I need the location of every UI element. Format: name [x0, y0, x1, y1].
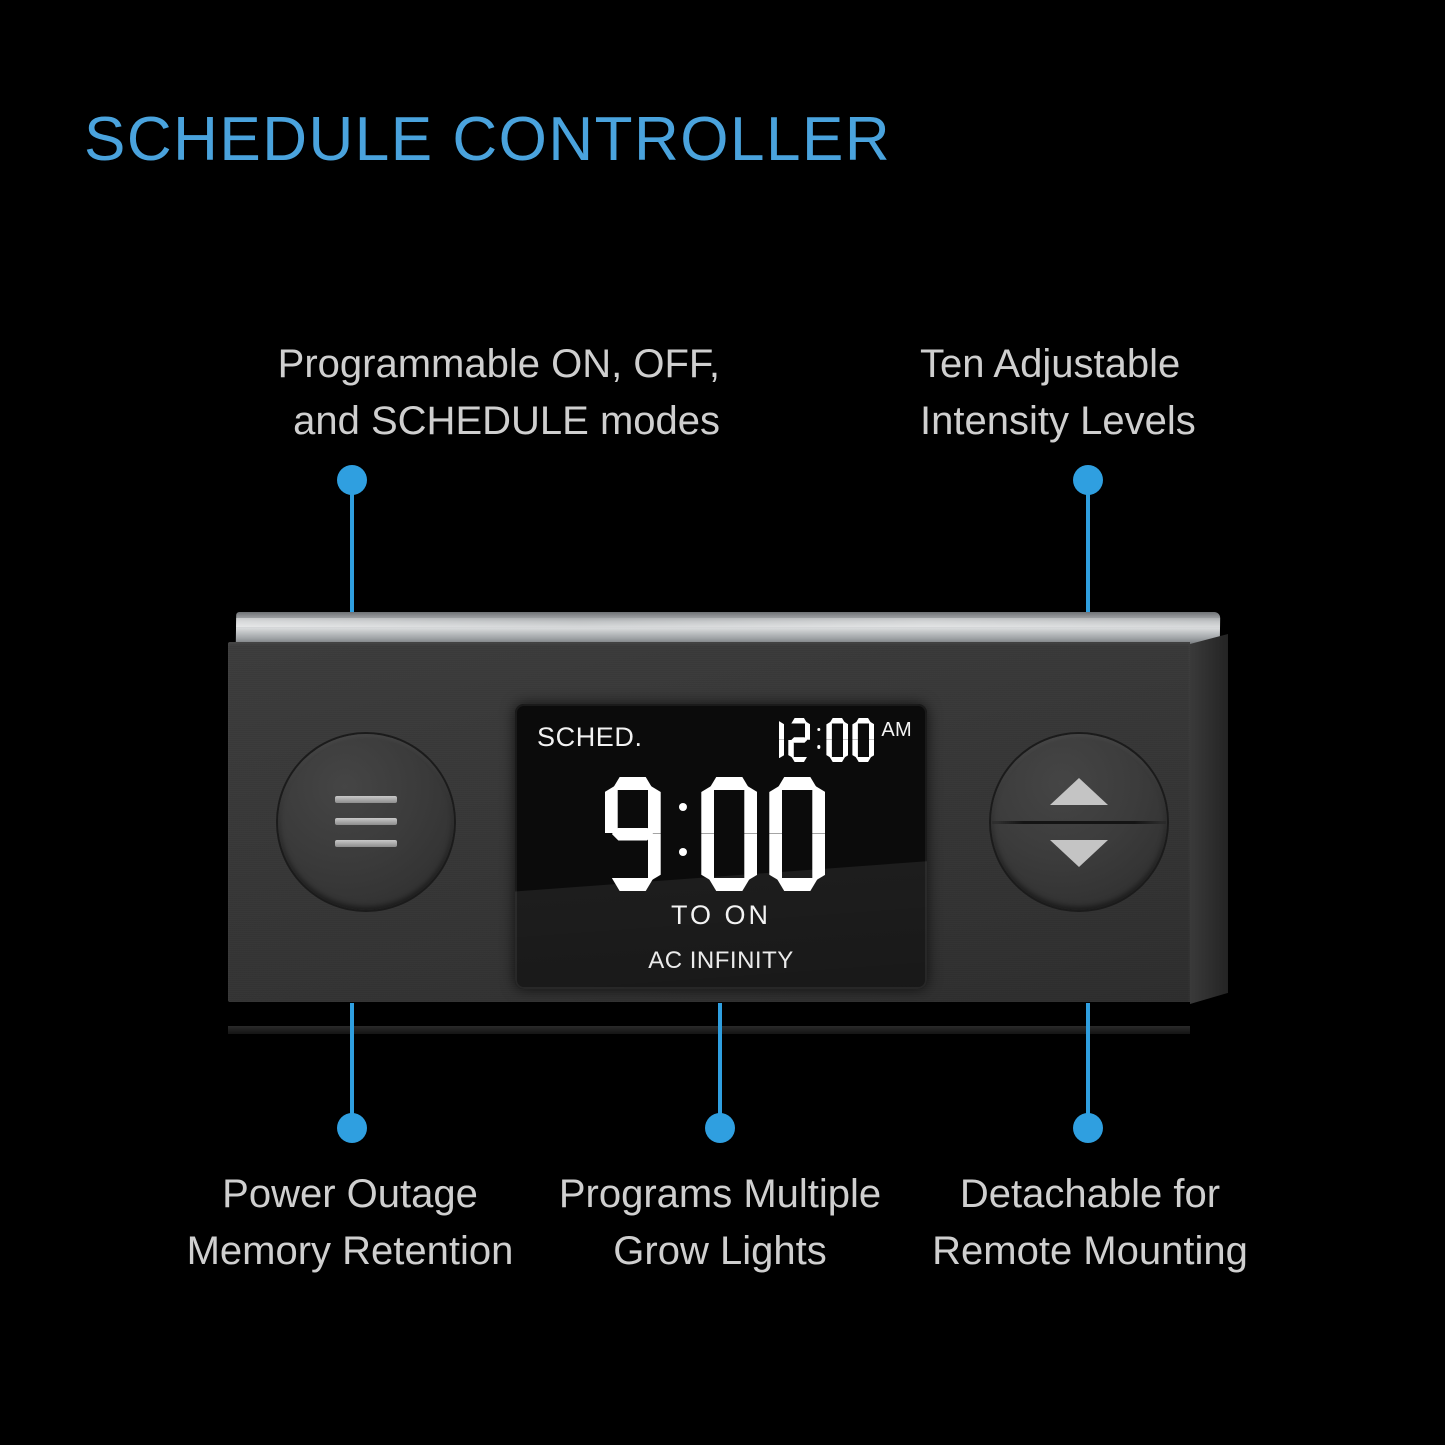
segment-g [708, 828, 750, 841]
callout-label-intensity-levels: Ten Adjustable Intensity Levels [920, 336, 1340, 450]
seven-segment-colon [673, 777, 694, 891]
segment-c [843, 740, 849, 759]
segment-e [826, 740, 832, 759]
seven-segment-digit [852, 718, 874, 762]
callout-dot-programs-multiple-lights [705, 1113, 735, 1143]
triangle-up-icon[interactable] [1050, 778, 1108, 805]
callout-line-power-outage-memory [350, 1003, 354, 1118]
segment-c [744, 833, 757, 882]
segment-c [869, 740, 875, 759]
seven-segment-digit [826, 718, 848, 762]
segment-c [648, 833, 661, 882]
segment-e [788, 740, 794, 759]
display-clock-digits [762, 718, 878, 762]
segment-b [869, 721, 875, 740]
segment-b [805, 721, 811, 740]
segment-f [826, 721, 832, 740]
callout-label-programmable-modes: Programmable ON, OFF, and SCHEDULE modes [150, 336, 720, 450]
intensity-rocker-button[interactable] [991, 734, 1167, 910]
display-main-time [515, 777, 927, 891]
callout-dot-programmable-modes [337, 465, 367, 495]
device-top-bevel [236, 612, 1220, 646]
colon-dot-2 [817, 745, 820, 748]
segment-e [852, 740, 858, 759]
seven-segment-colon [814, 718, 823, 762]
device-front-face: SCHED. AM TO ON AC INFINITY [228, 642, 1190, 1002]
segment-d [776, 878, 818, 891]
segment-c [812, 833, 825, 882]
display-clock: AM [762, 718, 912, 762]
hamburger-icon-line-1 [335, 796, 397, 803]
display-main-time-digits [605, 777, 838, 891]
segment-e [605, 833, 618, 882]
display-sub-label: TO ON [515, 900, 927, 931]
seven-segment-digit [762, 718, 784, 762]
rocker-divider [992, 821, 1166, 824]
callout-line-programmable-modes [350, 493, 354, 621]
menu-button[interactable] [278, 734, 454, 910]
callout-line-intensity-levels [1086, 493, 1090, 621]
segment-g [612, 828, 654, 841]
colon-dot-2 [679, 848, 687, 856]
segment-f [605, 784, 618, 833]
callout-line-programs-multiple-lights [718, 1003, 722, 1118]
hamburger-icon-line-2 [335, 818, 397, 825]
segment-d [612, 878, 654, 891]
display-brand: AC INFINITY [515, 947, 927, 975]
segment-g [776, 828, 818, 841]
callout-dot-detachable-mounting [1073, 1113, 1103, 1143]
page-title: SCHEDULE CONTROLLER [84, 104, 891, 175]
segment-a [776, 777, 818, 790]
callout-dot-power-outage-memory [337, 1113, 367, 1143]
segment-f [788, 721, 794, 740]
segment-f [852, 721, 858, 740]
seven-segment-digit [788, 718, 810, 762]
segment-e [701, 833, 714, 882]
seven-segment-digit [701, 777, 757, 891]
segment-c [805, 740, 811, 759]
triangle-down-icon[interactable] [1050, 840, 1108, 867]
display-clock-meridiem: AM [881, 719, 912, 742]
seven-segment-digit [769, 777, 825, 891]
segment-e [762, 740, 768, 759]
colon-dot-1 [817, 728, 820, 731]
device-right-side-panel [1190, 634, 1228, 1004]
callout-dot-intensity-levels [1073, 465, 1103, 495]
display-mode-label: SCHED. [537, 722, 643, 753]
segment-f [769, 784, 782, 833]
segment-c [779, 740, 785, 759]
segment-a [612, 777, 654, 790]
schedule-controller-device: SCHED. AM TO ON AC INFINITY [228, 612, 1228, 1004]
segment-e [769, 833, 782, 882]
segment-b [843, 721, 849, 740]
infographic-canvas: SCHEDULE CONTROLLER Programmable ON, OFF… [0, 0, 1445, 1445]
segment-b [779, 721, 785, 740]
colon-dot-1 [679, 803, 687, 811]
lcd-display: SCHED. AM TO ON AC INFINITY [515, 704, 927, 989]
device-bottom-edge [228, 1026, 1190, 1034]
segment-d [708, 878, 750, 891]
hamburger-icon-line-3 [335, 840, 397, 847]
callout-line-detachable-mounting [1086, 1003, 1090, 1118]
segment-b [744, 784, 757, 833]
segment-f [762, 721, 768, 740]
segment-a [708, 777, 750, 790]
segment-b [648, 784, 661, 833]
device-top-highlight [236, 618, 1220, 627]
callout-label-detachable-mounting: Detachable for Remote Mounting [800, 1166, 1380, 1280]
segment-f [701, 784, 714, 833]
segment-b [812, 784, 825, 833]
seven-segment-digit [605, 777, 661, 891]
